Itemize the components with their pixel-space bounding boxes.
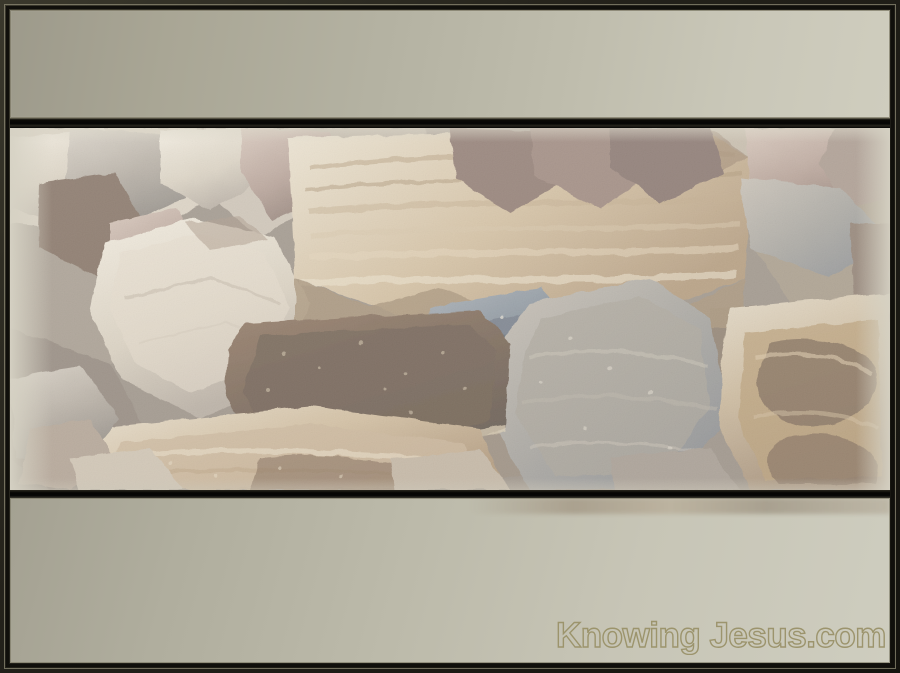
stone-photograph bbox=[10, 128, 890, 490]
divider-bottom bbox=[10, 490, 890, 498]
divider-top bbox=[10, 118, 890, 128]
verse-poster: This Jesus is the stone rejected by you … bbox=[0, 0, 900, 673]
stone-photo-illustration bbox=[10, 128, 890, 490]
top-caption-panel bbox=[10, 10, 890, 118]
site-watermark: Knowing Jesus.com bbox=[556, 616, 886, 656]
